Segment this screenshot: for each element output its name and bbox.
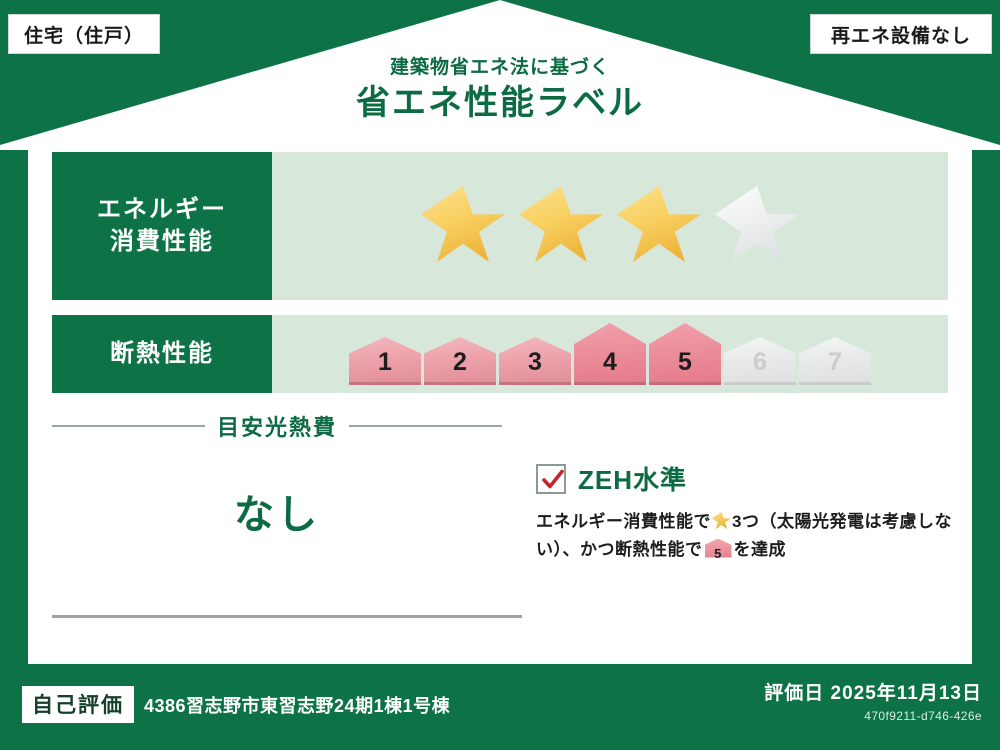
- cost-rule-left: [52, 425, 205, 427]
- house-level-icon: 5: [705, 539, 732, 558]
- insulation-level-number: 4: [603, 348, 617, 385]
- energy-performance-label: 住宅（住戸） 再エネ設備なし 建築物省エネ法に基づく 省エネ性能ラベル エネルギ…: [0, 0, 1000, 750]
- energy-label-line1: エネルギー: [97, 194, 227, 226]
- self-evaluation-badge: 自己評価: [22, 686, 134, 723]
- insulation-level-7: 7: [799, 337, 871, 385]
- cost-divider: [52, 615, 522, 618]
- star-filled-icon: [421, 186, 505, 266]
- cost-rule-right: [349, 425, 502, 427]
- zeh-desc-star-count: 3つ（太陽光発電: [732, 512, 864, 531]
- insulation-level-number: 5: [678, 348, 692, 385]
- energy-consumption-label: エネルギー 消費性能: [52, 152, 272, 300]
- zeh-checkbox[interactable]: [536, 464, 566, 494]
- check-icon: [540, 467, 566, 493]
- insulation-performance-row: 断熱性能 1234567: [52, 315, 948, 393]
- insulation-level-4: 4: [574, 323, 646, 385]
- insulation-level-6: 6: [724, 337, 796, 385]
- utility-cost-title: 目安光熱費: [217, 410, 337, 442]
- insulation-level-number: 1: [378, 348, 392, 385]
- evaluation-date-label: 評価日: [764, 683, 824, 704]
- insulation-level-1: 1: [349, 337, 421, 385]
- insulation-level-number: 6: [753, 348, 767, 385]
- star-empty-icon: [715, 186, 799, 266]
- insulation-level-5: 5: [649, 323, 721, 385]
- insulation-level-2: 2: [424, 337, 496, 385]
- property-address: 4386習志野市東習志野24期1棟1号棟: [144, 692, 450, 718]
- star-filled-icon: [519, 186, 603, 266]
- energy-consumption-row: エネルギー 消費性能: [52, 152, 948, 300]
- star-filled-icon: [617, 186, 701, 266]
- zeh-header: ZEH水準: [536, 460, 956, 497]
- energy-label-line2: 消費性能: [110, 226, 214, 258]
- zeh-desc-post: を達成: [734, 540, 787, 559]
- insulation-label-text: 断熱性能: [110, 338, 214, 370]
- evaluation-date-value: 2025年11月13日: [831, 683, 983, 704]
- star-rating: [272, 152, 948, 300]
- zeh-desc-pre: エネルギー消費性能で: [536, 512, 711, 531]
- footer-right-group: 評価日 2025年11月13日 470f9211-d746-426e: [764, 678, 982, 723]
- insulation-level-number: 7: [828, 348, 842, 385]
- insulation-level-houses: 1234567: [349, 323, 871, 385]
- evaluation-date: 評価日 2025年11月13日: [764, 678, 982, 705]
- utility-cost-value: なし: [52, 482, 502, 540]
- label-footer: 自己評価 4386習志野市東習志野24期1棟1号棟 評価日 2025年11月13…: [0, 664, 1000, 750]
- star-icon: [712, 512, 731, 530]
- zeh-standard-block: ZEH水準 エネルギー消費性能で3つ（太陽光発電は考慮しない）、かつ断熱性能で5…: [536, 460, 956, 563]
- house-icon-number: 5: [714, 546, 722, 561]
- insulation-level-number: 2: [453, 348, 467, 385]
- insulation-level-number: 3: [528, 348, 542, 385]
- building-type-tag: 住宅（住戸）: [8, 14, 160, 54]
- insulation-level-3: 3: [499, 337, 571, 385]
- zeh-description: エネルギー消費性能で3つ（太陽光発電は考慮しない）、かつ断熱性能で5を達成: [536, 508, 956, 563]
- zeh-title: ZEH水準: [578, 460, 687, 497]
- insulation-label: 断熱性能: [52, 315, 272, 393]
- utility-cost-header: 目安光熱費: [52, 410, 502, 442]
- footer-left-group: 自己評価 4386習志野市東習志野24期1棟1号棟: [22, 686, 450, 723]
- renewable-equipment-tag: 再エネ設備なし: [810, 14, 992, 54]
- insulation-scale: 1234567: [272, 315, 948, 393]
- document-id: 470f9211-d746-426e: [764, 709, 982, 723]
